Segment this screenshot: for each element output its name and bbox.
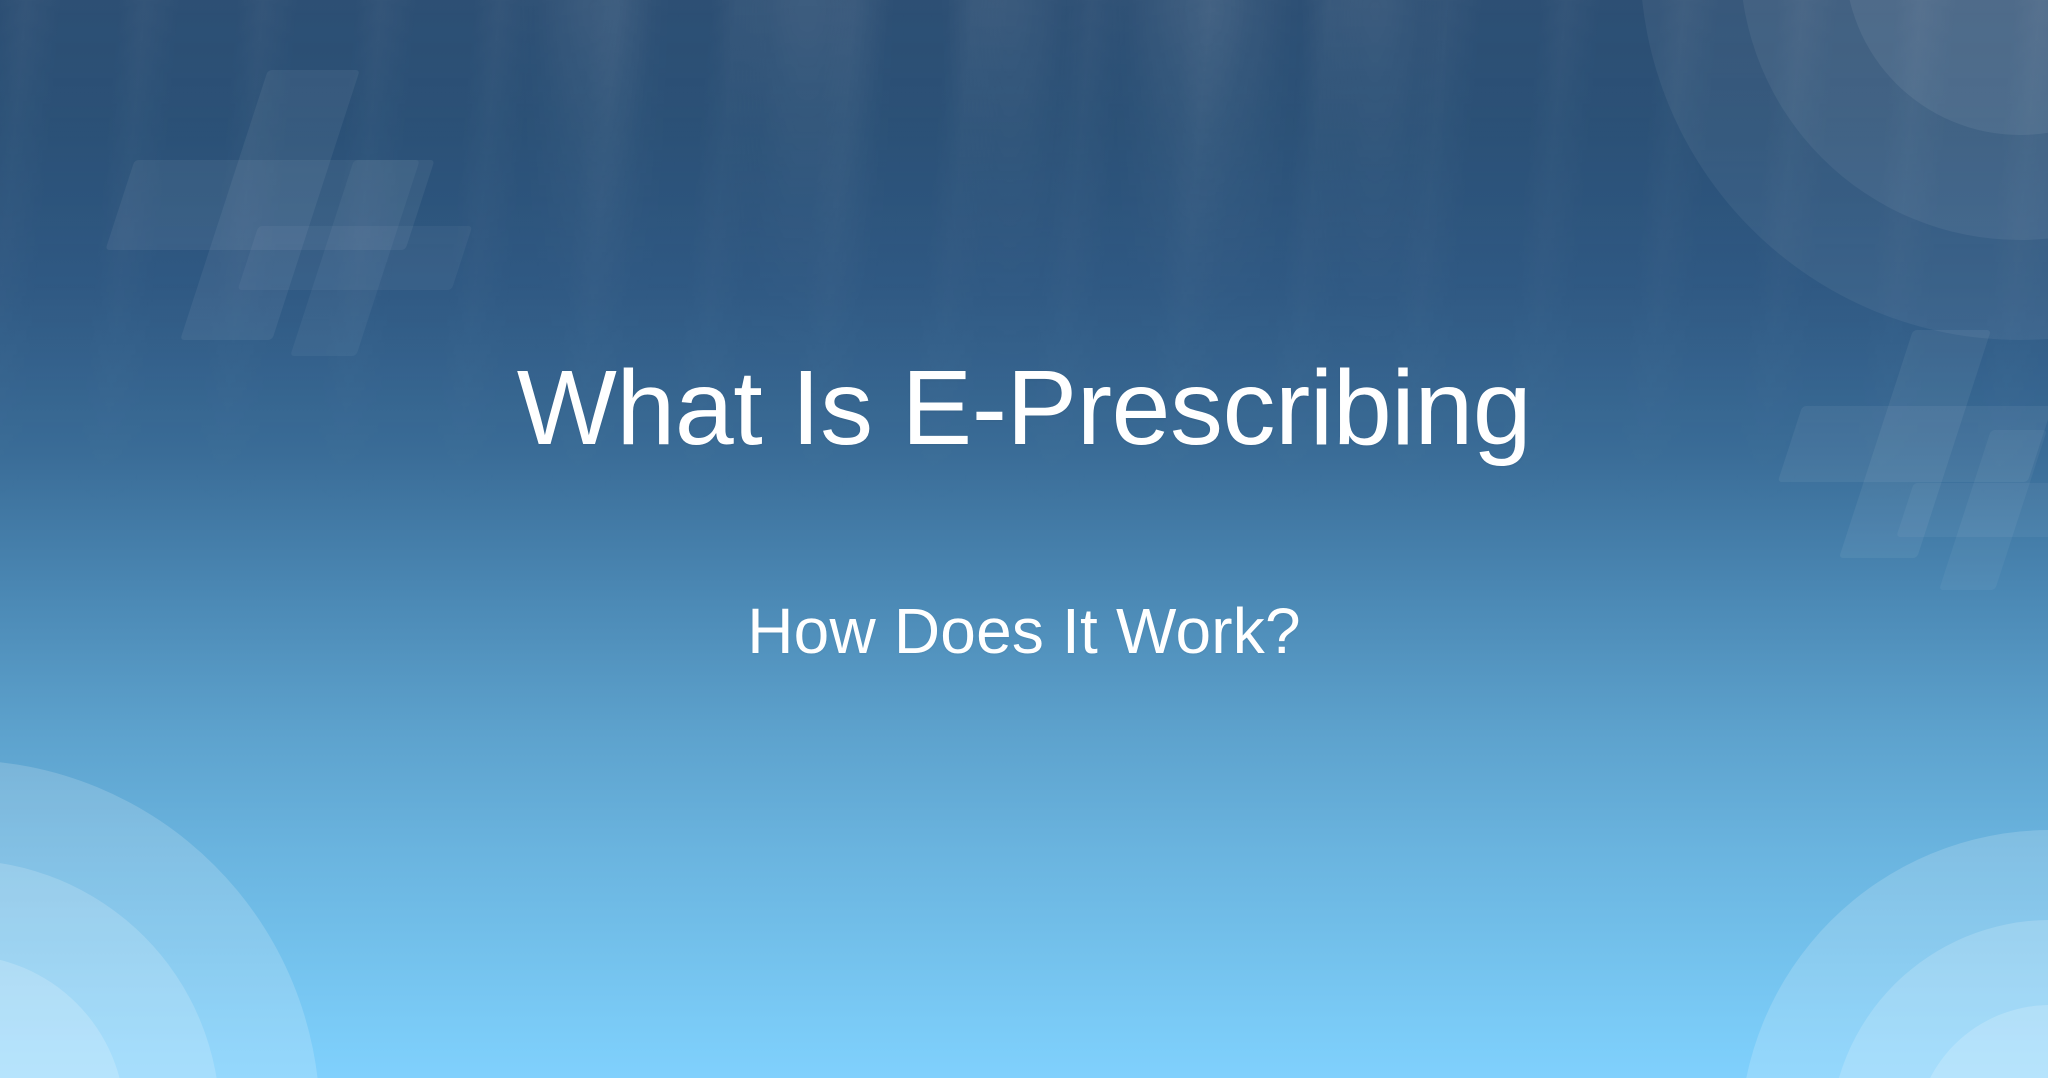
slide-subtitle: How Does It Work? — [0, 596, 2048, 666]
presentation-slide: What Is E-Prescribing How Does It Work? — [0, 0, 2048, 1078]
slide-text-block: What Is E-Prescribing How Does It Work? — [0, 0, 2048, 1078]
slide-title: What Is E-Prescribing — [0, 351, 2048, 465]
